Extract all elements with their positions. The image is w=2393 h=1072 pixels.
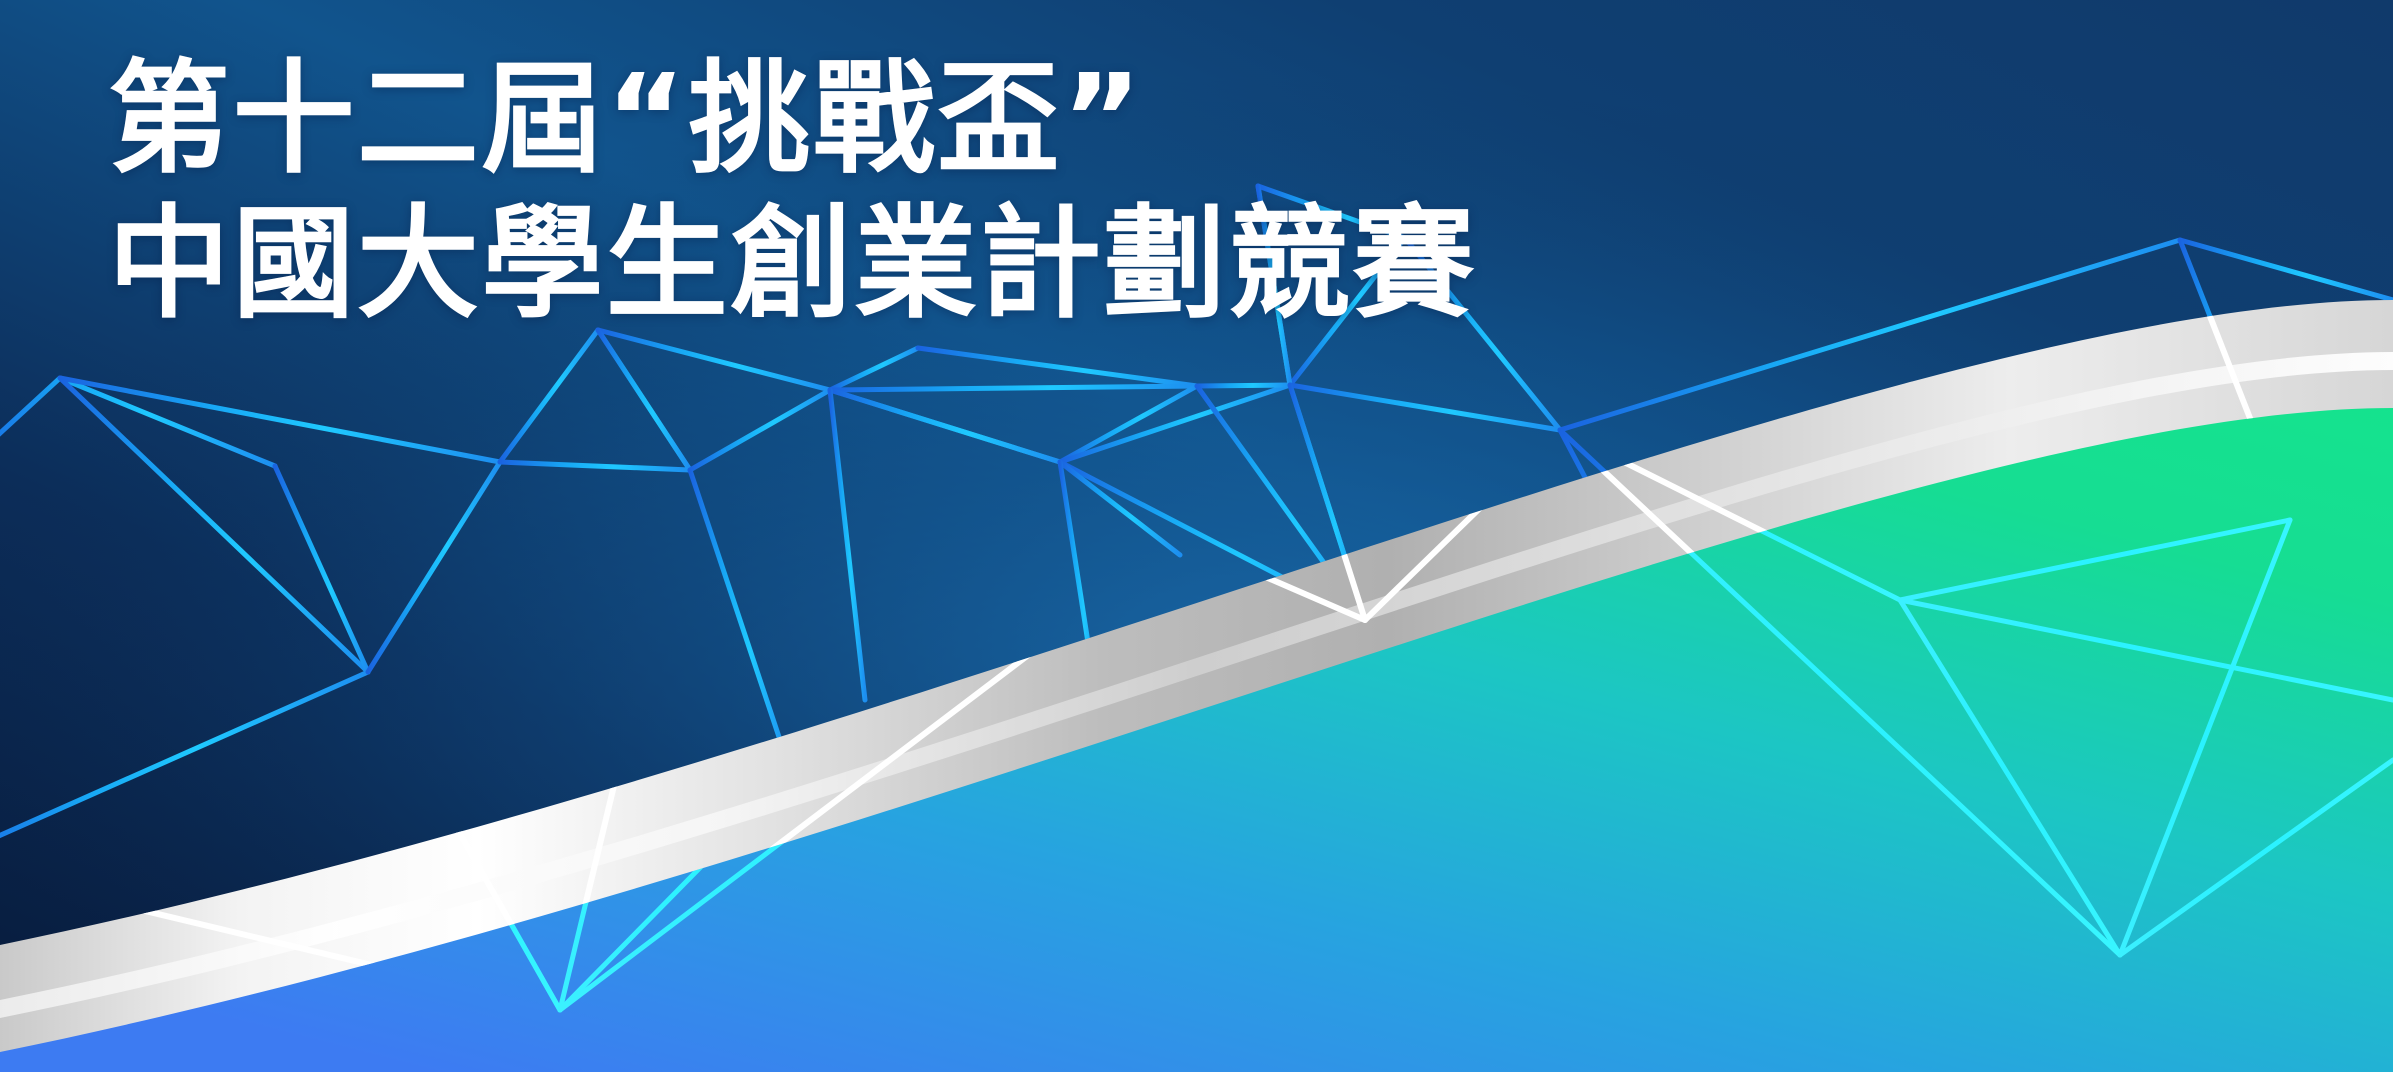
background-artwork [0, 0, 2393, 1072]
competition-banner: 第十二屆“挑戰盃” 中國大學生創業計劃競賽 [0, 0, 2393, 1072]
